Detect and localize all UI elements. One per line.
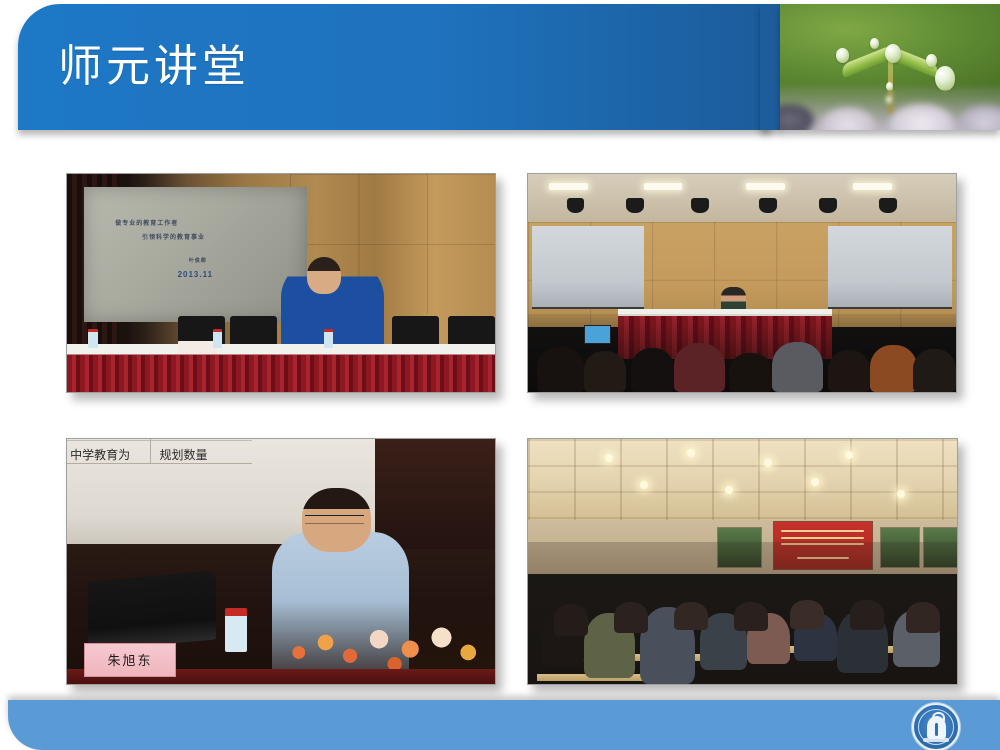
ceiling-light <box>549 183 588 191</box>
audience-head <box>537 347 584 393</box>
audience-head <box>674 343 725 392</box>
screen-cell-2: 规划数量 <box>159 446 207 463</box>
water-bottle <box>88 329 97 349</box>
header-title-band: 师元讲堂 <box>18 4 772 130</box>
university-emblem-icon <box>912 703 960 750</box>
dewdrop <box>935 66 955 91</box>
downlight <box>764 459 772 467</box>
dewdrop <box>885 44 901 63</box>
room-side-wall <box>375 439 495 549</box>
speaker-glasses <box>305 515 365 524</box>
downlight <box>640 481 648 489</box>
student <box>614 602 648 633</box>
screen-cell-1: 中学教育为 <box>70 446 130 463</box>
audience-head <box>584 351 627 392</box>
desk-nameplate <box>178 341 217 354</box>
screen-line-1: 做专业的教育工作者 <box>115 218 178 227</box>
student <box>734 602 768 632</box>
ceiling-light <box>746 183 785 191</box>
downlight <box>725 486 733 494</box>
audience-head <box>729 353 772 392</box>
slide-header: 师元讲堂 <box>0 0 1000 140</box>
student <box>850 600 884 630</box>
header-seedling-photo <box>780 4 1000 130</box>
audience-laptop <box>584 325 612 344</box>
chair <box>230 316 277 344</box>
dewdrop <box>836 48 849 63</box>
student <box>674 602 708 630</box>
ceiling-light <box>853 183 892 191</box>
screen-table-rule-top <box>67 440 252 441</box>
laptop <box>88 571 216 651</box>
presentation-slide: 师元讲堂 做专业的教育工作者 引领科学的教育事业 <box>0 0 1000 750</box>
projection-screen-left <box>532 226 643 309</box>
water-bottle <box>213 329 222 349</box>
student <box>554 604 588 635</box>
header-band-tail <box>760 4 782 130</box>
chair <box>448 316 495 344</box>
screen-line-2: 引领科学的教育事业 <box>142 232 205 241</box>
screen-table-divider <box>150 439 151 463</box>
stage-spotlight <box>626 198 644 213</box>
ceiling-coffer-grid <box>528 439 957 520</box>
gallery-photo-speaker-with-nameplate: 中学教育为 规划数量 朱旭东 <box>66 438 496 685</box>
screen-line-3: 叶俊卿 <box>189 257 207 264</box>
student-audience <box>528 542 957 684</box>
stage-spotlight <box>759 198 777 213</box>
gallery-photo-lecture-speaker-blue-jacket: 做专业的教育工作者 引领科学的教育事业 叶俊卿 2013.11 <box>66 173 496 393</box>
screen-line-4: 2013.11 <box>178 270 213 279</box>
emblem-bell <box>927 716 946 739</box>
ceiling-light <box>644 183 683 191</box>
audience-head <box>913 349 956 392</box>
nameplate-text: 朱旭东 <box>108 650 153 669</box>
table-skirt <box>67 355 495 392</box>
projection-screen: 做专业的教育工作者 引领科学的教育事业 叶俊卿 2013.11 <box>84 187 307 322</box>
gallery-photo-auditorium-audience-back-view <box>527 173 957 393</box>
stage-spotlight <box>819 198 837 213</box>
slide-footer-bar <box>8 700 1000 750</box>
audience-head <box>772 342 823 392</box>
seedling-foreground-blur <box>780 90 1000 130</box>
audience-head <box>631 348 674 392</box>
student <box>790 600 824 628</box>
desk-nameplate: 朱旭东 <box>84 643 176 677</box>
downlight <box>605 454 613 462</box>
water-bottle <box>324 329 333 349</box>
dewdrop <box>870 38 879 49</box>
screen-table-rule <box>67 463 252 464</box>
speaker <box>721 287 747 311</box>
speaker-head <box>307 257 341 294</box>
student <box>906 602 940 633</box>
projection-screen-right <box>828 226 952 309</box>
stage-spotlight <box>879 198 897 213</box>
page-title: 师元讲堂 <box>58 40 250 94</box>
downlight <box>687 449 695 457</box>
audience-head <box>870 345 917 392</box>
gallery-photo-classroom-full-of-students <box>527 438 958 685</box>
emblem-base <box>923 738 949 742</box>
chair <box>392 316 439 344</box>
stage-spotlight <box>691 198 709 213</box>
audience-head <box>828 350 871 392</box>
dewdrop <box>926 54 937 67</box>
water-bottle <box>225 608 246 652</box>
